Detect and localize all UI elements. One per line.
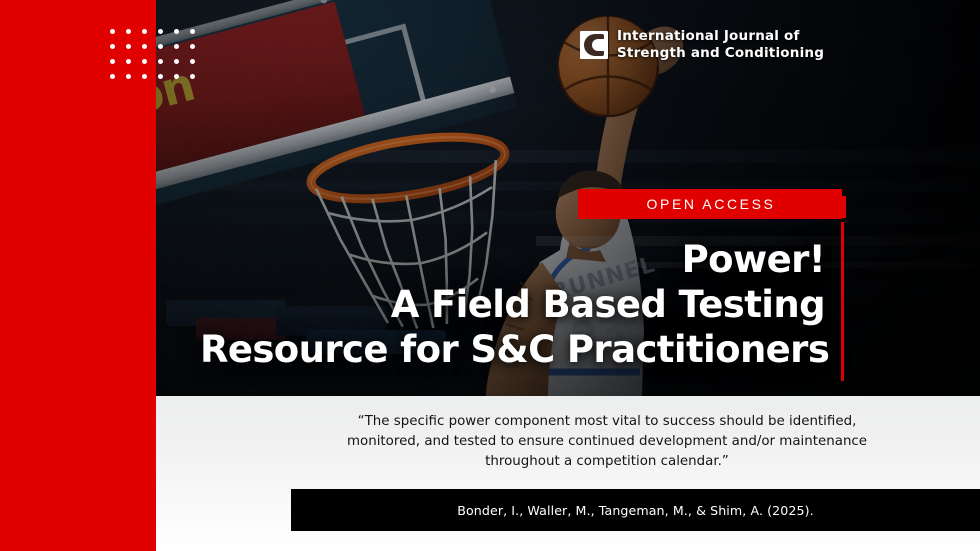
title-accent-rule [841, 222, 844, 381]
dot [190, 59, 195, 64]
page-title: Power! A Field Based Testing Resource fo… [200, 238, 825, 372]
dot [174, 44, 179, 49]
dot [126, 44, 131, 49]
badge-accent-tick [842, 196, 846, 218]
dot [174, 74, 179, 79]
dot [158, 29, 163, 34]
dot [174, 29, 179, 34]
dot [126, 74, 131, 79]
dot [142, 44, 147, 49]
title-line-3: Resource for S&C Practitioners [200, 328, 825, 373]
title-line-2: A Field Based Testing [200, 283, 825, 328]
dot [142, 29, 147, 34]
journal-name: International Journal of Strength and Co… [617, 28, 824, 62]
dot [190, 29, 195, 34]
open-access-label: OPEN ACCESS [645, 196, 776, 212]
dot [126, 29, 131, 34]
citation-bar: Bonder, I., Waller, M., Tangeman, M., & … [291, 489, 980, 531]
dot [110, 74, 115, 79]
dot [190, 44, 195, 49]
dot [174, 59, 179, 64]
journal-name-line1: International Journal of [617, 28, 800, 44]
dot [158, 74, 163, 79]
dot [110, 29, 115, 34]
dot [126, 59, 131, 64]
poster-canvas: mizon wins [0, 0, 980, 551]
dot [142, 74, 147, 79]
citation-text: Bonder, I., Waller, M., Tangeman, M., & … [457, 503, 814, 518]
journal-monogram-icon [580, 31, 608, 59]
dot-grid-decoration [110, 29, 198, 79]
dot [110, 59, 115, 64]
journal-name-line2: Strength and Conditioning [617, 45, 824, 61]
dot [110, 44, 115, 49]
journal-brand: International Journal of Strength and Co… [580, 28, 824, 62]
dot [142, 59, 147, 64]
dot [158, 59, 163, 64]
title-line-1: Power! [200, 238, 825, 283]
dot [190, 74, 195, 79]
open-access-badge: OPEN ACCESS [578, 189, 842, 219]
dot [158, 44, 163, 49]
left-accent-bar [0, 0, 156, 551]
pull-quote: “The specific power component most vital… [342, 412, 872, 472]
